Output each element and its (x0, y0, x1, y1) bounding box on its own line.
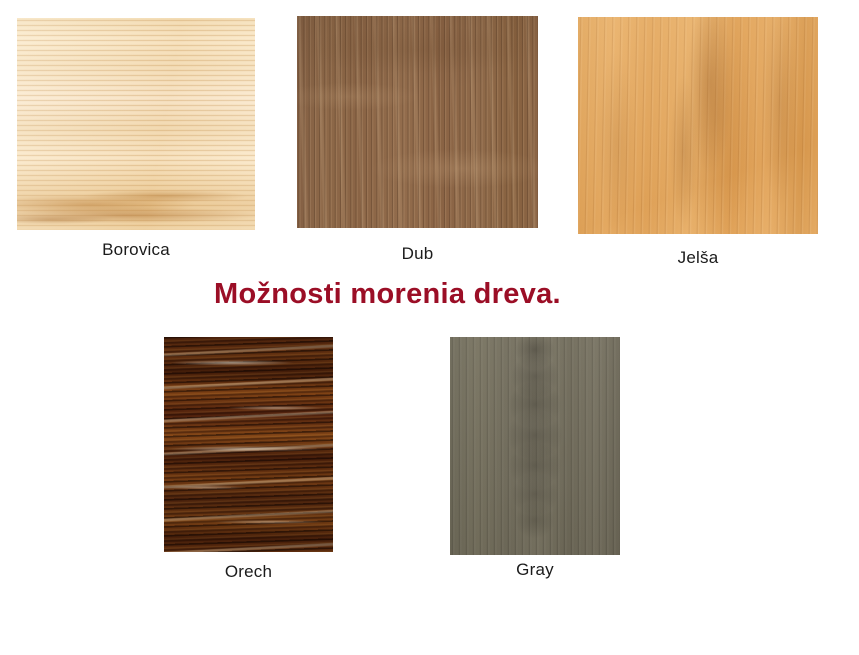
swatch-orech[interactable] (164, 337, 333, 552)
swatch-label-dub: Dub (297, 244, 538, 264)
jelsa-surface-sheen (578, 17, 818, 234)
swatch-gray[interactable] (450, 337, 620, 555)
swatch-label-borovica: Borovica (17, 240, 255, 260)
gray-surface-sheen (450, 337, 620, 555)
swatch-label-gray: Gray (450, 560, 620, 580)
wood-stain-options-page: Borovica Dub Jelša Možnosti morenia drev… (0, 0, 859, 655)
swatch-jelsa[interactable] (578, 17, 818, 234)
page-title: Možnosti morenia dreva. (214, 278, 561, 311)
swatch-borovica[interactable] (17, 18, 255, 230)
borovica-surface-sheen (17, 18, 255, 230)
orech-surface-sheen (164, 337, 333, 552)
swatch-label-orech: Orech (164, 562, 333, 582)
swatch-dub[interactable] (297, 16, 538, 228)
dub-figure-texture (297, 16, 538, 228)
swatch-label-jelsa: Jelša (578, 248, 818, 268)
